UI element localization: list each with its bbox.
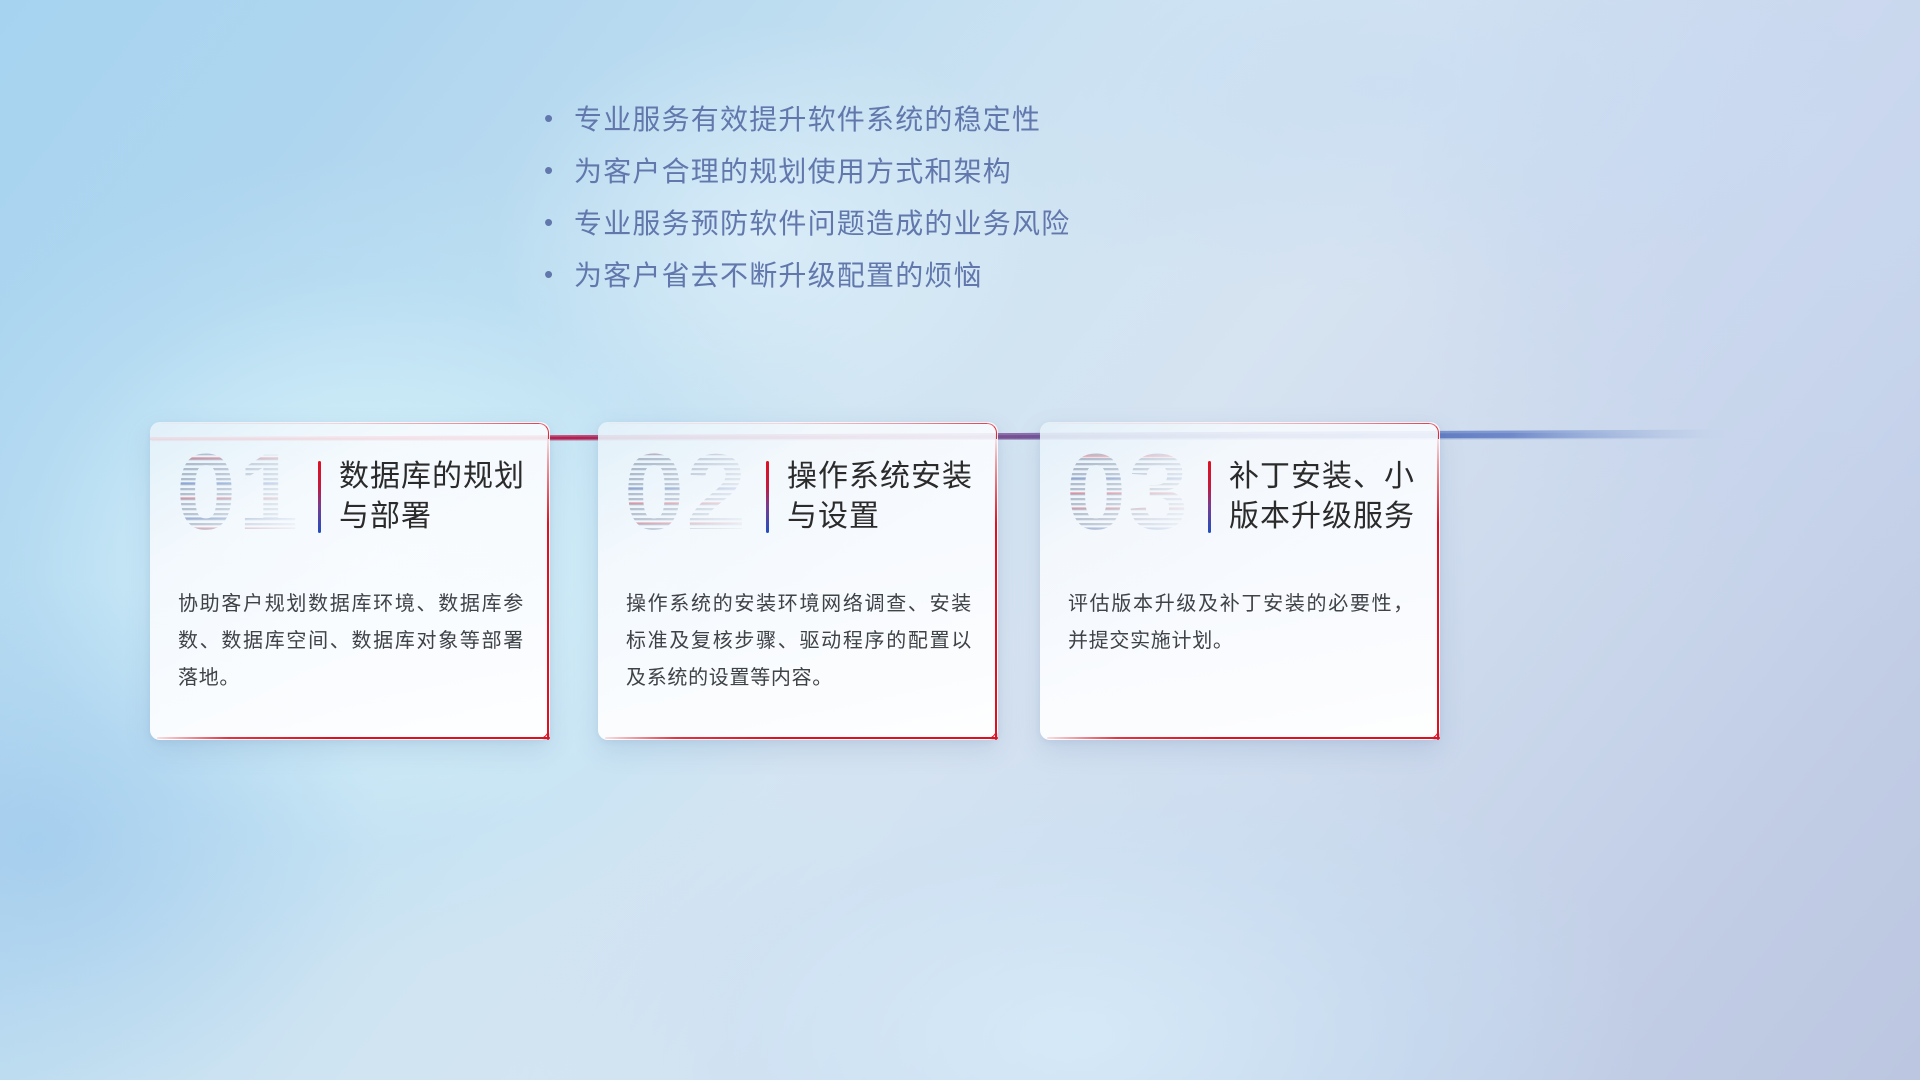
striped-number-icon: 03 bbox=[1066, 443, 1204, 551]
card-title-separator bbox=[766, 461, 769, 533]
bullet-dot-icon: • bbox=[540, 157, 574, 183]
card-title-line1: 操作系统安装 bbox=[787, 457, 984, 497]
bullet-dot-icon: • bbox=[540, 105, 574, 131]
bullet-dot-icon: • bbox=[540, 261, 574, 287]
bullet-item-label: 专业服务预防软件问题造成的业务风险 bbox=[574, 202, 1070, 242]
card-title-line1: 补丁安装、小 bbox=[1229, 457, 1426, 497]
service-card[interactable]: 02 bbox=[598, 422, 998, 740]
striped-number-icon: 01 bbox=[176, 443, 314, 551]
card-description: 评估版本升级及补丁安装的必要性，并提交实施计划。 bbox=[1068, 586, 1414, 660]
card-header: 01 bbox=[150, 422, 550, 572]
card-title: 补丁安装、小 版本升级服务 bbox=[1229, 457, 1440, 537]
card-number-graphic: 02 bbox=[624, 443, 762, 551]
bullet-item-label: 专业服务有效提升软件系统的稳定性 bbox=[574, 98, 1041, 138]
service-cards: 01 bbox=[0, 422, 1920, 752]
card-header: 03 bbox=[1040, 422, 1440, 572]
card-title-line1: 数据库的规划 bbox=[339, 457, 536, 497]
card-description: 协助客户规划数据库环境、数据库参数、数据库空间、数据库对象等部署落地。 bbox=[178, 586, 524, 697]
striped-number-icon: 02 bbox=[624, 443, 762, 551]
card-title: 数据库的规划 与部署 bbox=[339, 457, 550, 537]
card-header: 02 bbox=[598, 422, 998, 572]
bullet-item: • 为客户合理的规划使用方式和架构 bbox=[540, 144, 1240, 196]
bullet-item-label: 为客户合理的规划使用方式和架构 bbox=[574, 150, 1012, 190]
bullet-item-label: 为客户省去不断升级配置的烦恼 bbox=[574, 254, 983, 294]
bullet-item: • 为客户省去不断升级配置的烦恼 bbox=[540, 248, 1240, 300]
bullet-item: • 专业服务预防软件问题造成的业务风险 bbox=[540, 196, 1240, 248]
card-title-line2: 版本升级服务 bbox=[1229, 497, 1426, 537]
card-title-separator bbox=[318, 461, 321, 533]
service-card[interactable]: 01 bbox=[150, 422, 550, 740]
card-number-graphic: 01 bbox=[176, 443, 314, 551]
card-number-graphic: 03 bbox=[1066, 443, 1204, 551]
benefits-bullet-list: • 专业服务有效提升软件系统的稳定性 • 为客户合理的规划使用方式和架构 • 专… bbox=[540, 92, 1240, 300]
bullet-item: • 专业服务有效提升软件系统的稳定性 bbox=[540, 92, 1240, 144]
bullet-dot-icon: • bbox=[540, 209, 574, 235]
card-title-separator bbox=[1208, 461, 1211, 533]
card-description: 操作系统的安装环境网络调查、安装标准及复核步骤、驱动程序的配置以及系统的设置等内… bbox=[626, 586, 972, 697]
service-card[interactable]: 03 bbox=[1040, 422, 1440, 740]
card-title: 操作系统安装 与设置 bbox=[787, 457, 998, 537]
card-title-line2: 与部署 bbox=[339, 497, 536, 537]
card-title-line2: 与设置 bbox=[787, 497, 984, 537]
